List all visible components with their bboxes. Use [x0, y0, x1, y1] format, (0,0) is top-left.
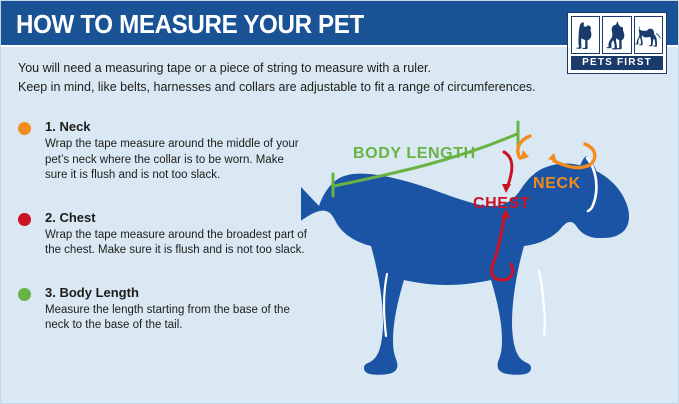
step-chest-title: 2. Chest [45, 210, 308, 226]
step-neck: 1. Neck Wrap the tape measure around the… [18, 119, 308, 184]
step-neck-title: 1. Neck [45, 119, 308, 135]
dog-measurement-diagram: BODY LENGTH NECK CHEST [301, 96, 679, 396]
body-length-label: BODY LENGTH [353, 145, 476, 162]
step-chest-body: Wrap the tape measure around the broades… [45, 228, 308, 259]
bullet-chest-icon [18, 213, 31, 226]
step-neck-body: Wrap the tape measure around the middle … [45, 137, 308, 184]
step-body-length-title: 3. Body Length [45, 285, 308, 301]
measurement-steps: 1. Neck Wrap the tape measure around the… [18, 119, 308, 334]
chest-label: CHEST [473, 195, 530, 212]
step-body-length-body: Measure the length starting from the bas… [45, 303, 308, 334]
neck-label: NECK [533, 175, 581, 192]
dog-sitting-icon [571, 16, 600, 54]
dog-standing-icon [634, 16, 663, 54]
bullet-body-length-icon [18, 288, 31, 301]
bullet-neck-icon [18, 122, 31, 135]
intro-line-1: You will need a measuring tape or a piec… [18, 59, 658, 78]
how-to-measure-infographic: HOW TO MEASURE YOUR PET PETS [0, 0, 679, 404]
dog-begging-icon [602, 16, 631, 54]
step-chest: 2. Chest Wrap the tape measure around th… [18, 210, 308, 259]
intro-text: You will need a measuring tape or a piec… [18, 59, 658, 97]
intro-line-2: Keep in mind, like belts, harnesses and … [18, 78, 658, 97]
page-title: HOW TO MEASURE YOUR PET [16, 10, 364, 38]
logo-panels [571, 16, 663, 54]
step-body-length: 3. Body Length Measure the length starti… [18, 285, 308, 334]
